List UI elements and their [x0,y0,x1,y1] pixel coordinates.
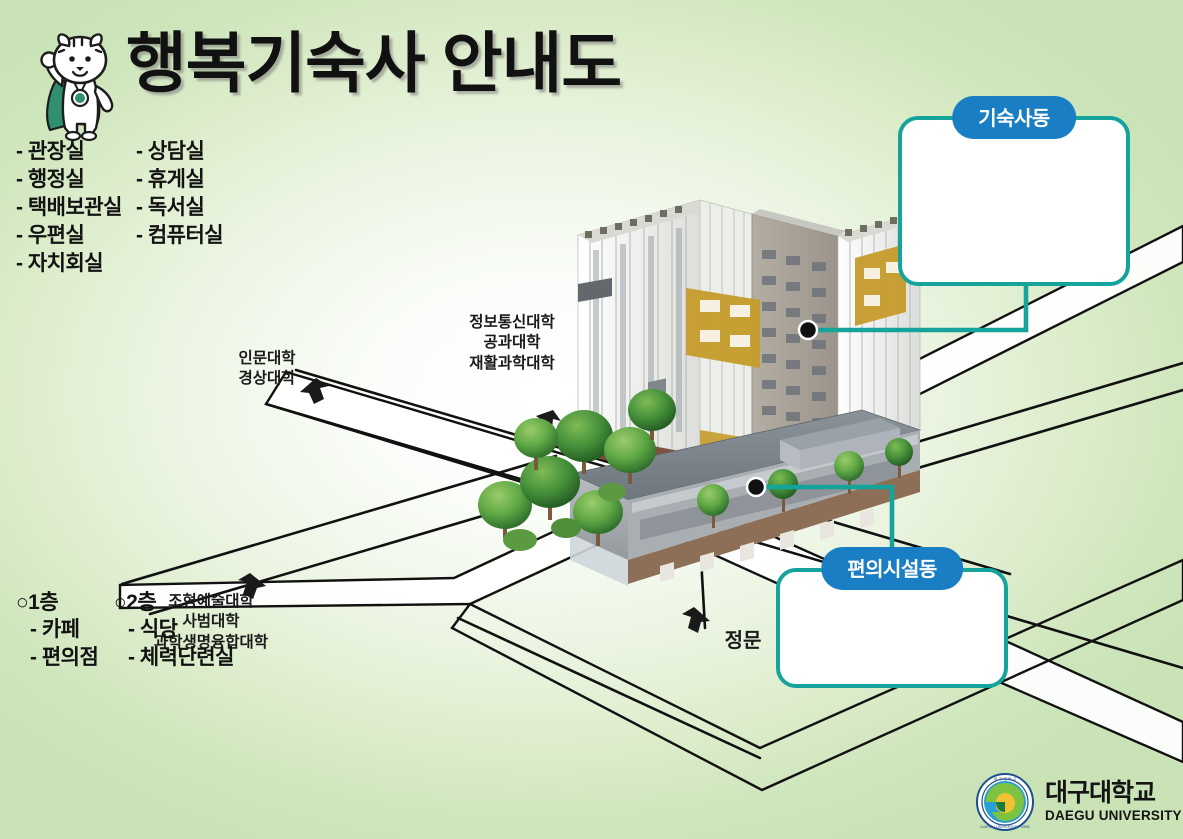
direction-line: 경상대학 [207,369,327,389]
callout-connectors [756,286,1026,568]
white-tiger-mascot-icon [30,24,132,146]
tree-cluster [478,389,913,551]
logo-name-en: DAEGU UNIVERSITY [1045,809,1182,823]
floor-item: - 체력단련실 [114,644,234,672]
callout-dormitory-body: - 관장실 - 행정실 - 택배보관실 - 우편실 - 자치회실 - 상담실 -… [0,138,1183,278]
direction-line: 인문대학 [207,349,327,369]
dormitory-map-poster: 행복기숙사 안내도 인문대학 경상대학 정보통신대학 공과대학 재활과학대학 조… [0,0,1183,839]
svg-text:DAEGU UNIVERSITY 1956: DAEGU UNIVERSITY 1956 [980,824,1030,829]
page-title: 행복기숙사 안내도 [126,30,621,96]
callout-item: - 상담실 [136,138,223,166]
direction-label-humanities: 인문대학 경상대학 [207,349,327,390]
floor-item: - 카페 [16,616,108,644]
road-crossing [430,452,730,520]
callout-item: - 우편실 [16,222,132,250]
direction-line: 정보통신대학 [427,313,597,333]
callout-item: - 컴퓨터실 [136,222,223,250]
poster-header: 행복기숙사 안내도 [0,0,720,150]
logo-name-ko: 대구대학교 [1045,781,1182,806]
callout-facility-floor-2: ○2층 - 식당 - 체력단련실 [114,589,234,672]
floor-title: ○2층 [114,589,234,616]
callout-facility-title: 편의시설동 [821,547,963,590]
callout-item: - 독서실 [136,194,223,222]
floor-item: - 식당 [114,616,234,644]
logo-text: 대구대학교 DAEGU UNIVERSITY [1045,781,1182,823]
callout-facility-floor-1: ○1층 - 카페 - 편의점 [16,589,108,672]
callout-item: - 행정실 [16,166,132,194]
callout-dormitory-title: 기숙사동 [952,96,1076,139]
direction-label-ict: 정보통신대학 공과대학 재활과학대학 [427,313,597,374]
callout-dormitory-column-right: - 상담실 - 휴게실 - 독서실 - 컴퓨터실 [136,138,223,278]
callout-item: - 자치회실 [16,250,132,278]
callout-item: - 휴게실 [136,166,223,194]
direction-line: 공과대학 [427,333,597,353]
floor-title: ○1층 [16,589,108,616]
svg-text:대 구 대 학 교: 대 구 대 학 교 [994,776,1017,782]
callout-facility-body: ○1층 - 카페 - 편의점 ○2층 - 식당 - 체력단련실 [0,589,1183,672]
callout-dormitory-column-left: - 관장실 - 행정실 - 택배보관실 - 우편실 - 자치회실 [16,138,132,278]
direction-line: 재활과학대학 [427,354,597,374]
callout-item: - 택배보관실 [16,194,132,222]
daegu-university-emblem-icon: 대 구 대 학 교 DAEGU UNIVERSITY 1956 [975,772,1035,832]
callout-anchor-dots [747,321,817,496]
floor-item: - 편의점 [16,644,108,672]
university-logo: 대 구 대 학 교 DAEGU UNIVERSITY 1956 대구대학교 DA… [975,772,1182,832]
callout-item: - 관장실 [16,138,132,166]
